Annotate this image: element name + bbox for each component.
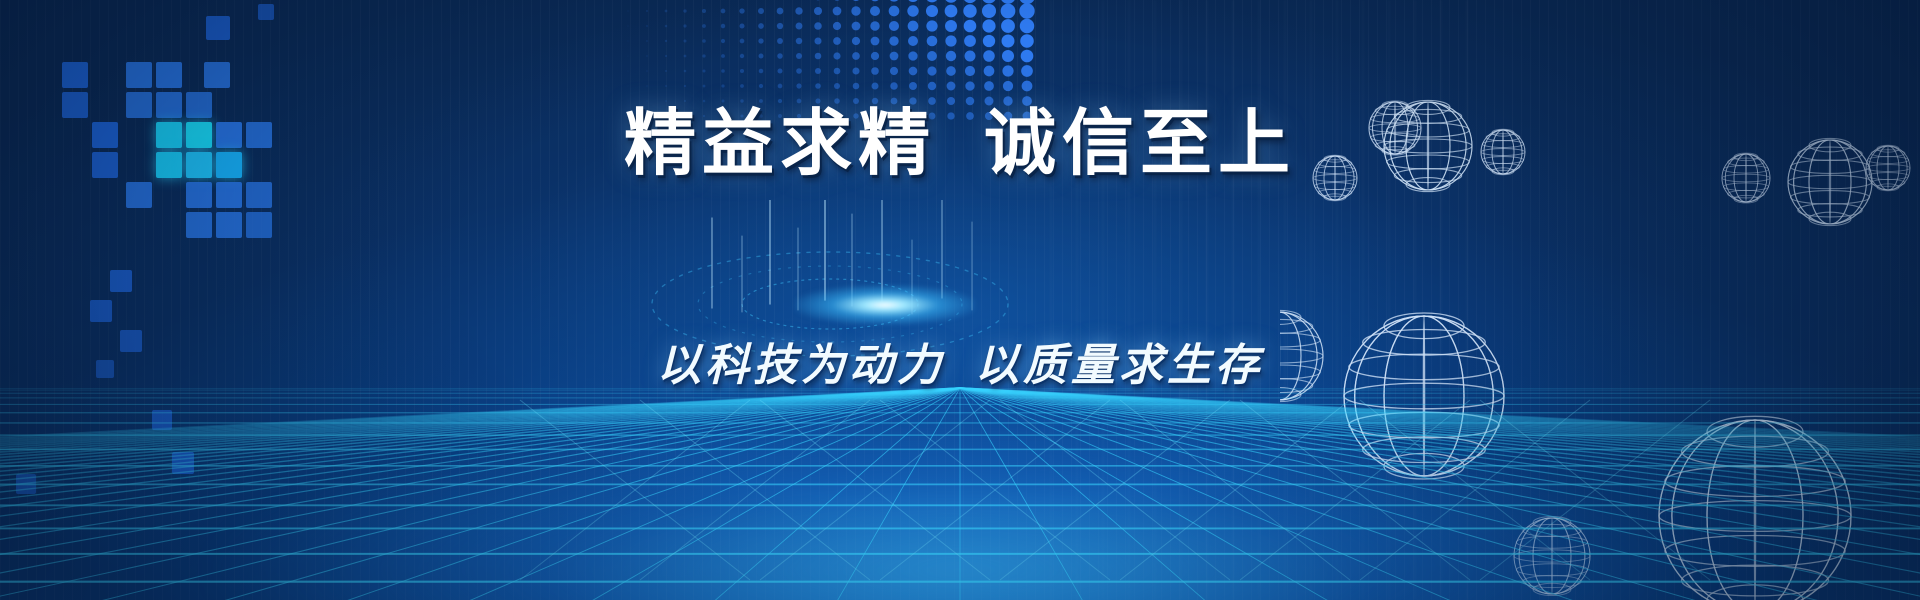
banner-subline: 以科技为动力 以质量求生存 xyxy=(0,344,1920,388)
banner-headline: 精益求精 诚信至上 xyxy=(0,108,1920,180)
tech-banner: 精益求精 诚信至上 以科技为动力 以质量求生存 xyxy=(0,0,1920,600)
banner-text: 精益求精 诚信至上 以科技为动力 以质量求生存 xyxy=(0,0,1920,600)
